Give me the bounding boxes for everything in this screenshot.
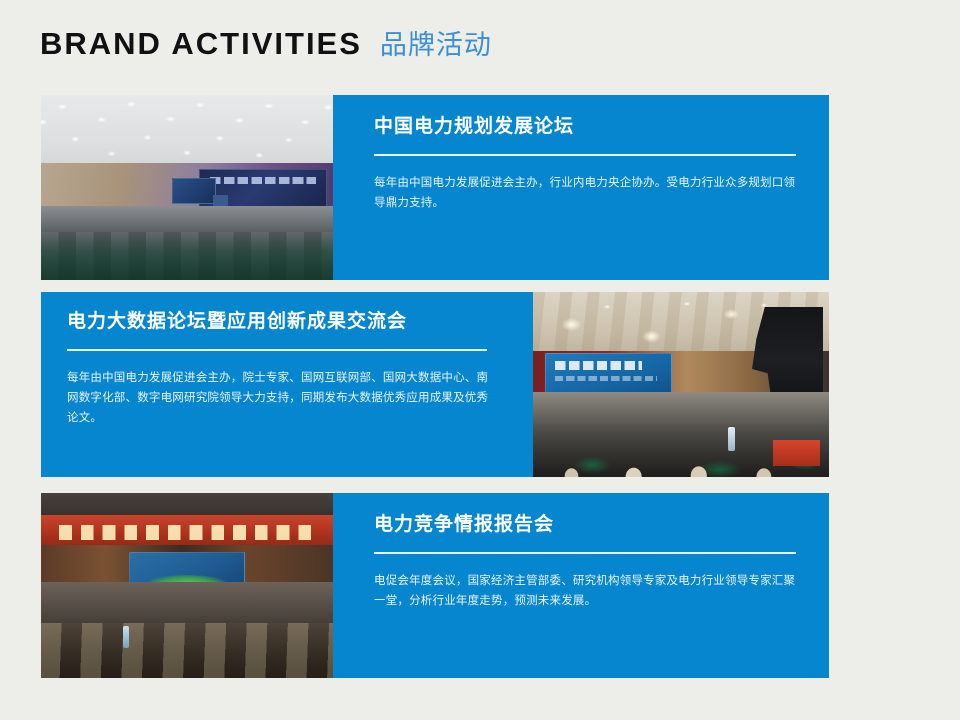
activity-photo-3	[41, 493, 333, 678]
activity-card-3[interactable]: 电力竞争情报报告会 电促会年度会议，国家经济主管部委、研究机构领导专家及电力行业…	[41, 493, 829, 678]
page-title-chinese: 品牌活动	[380, 32, 492, 59]
photo-audience-heads	[41, 195, 333, 280]
activity-title-1: 中国电力规划发展论坛	[374, 116, 574, 139]
page-title: BRAND ACTIVITIES 品牌活动	[40, 28, 492, 59]
activity-title-2: 电力大数据论坛暨应用创新成果交流会	[67, 311, 407, 334]
activity-description-2: 每年由中国电力发展促进会主办，院士专家、国网互联网部、国网大数据中心、南网数字化…	[67, 368, 499, 428]
photo-water-bottle	[123, 626, 129, 648]
activity-divider-3	[374, 552, 796, 554]
activity-description-3: 电促会年度会议，国家经济主管部委、研究机构领导专家及电力行业领导专家汇聚一堂，分…	[374, 571, 804, 611]
activity-body-2: 电力大数据论坛暨应用创新成果交流会 每年由中国电力发展促进会主办，院士专家、国网…	[41, 292, 533, 477]
activity-divider-2	[67, 349, 487, 351]
activity-title-3: 电力竞争情报报告会	[374, 514, 554, 537]
activity-divider-1	[374, 154, 796, 156]
photo-audience-heads	[41, 593, 333, 678]
activity-body-1: 中国电力规划发展论坛 每年由中国电力发展促进会主办，行业内电力央企协办。受电力行…	[333, 95, 829, 280]
activity-description-1: 每年由中国电力发展促进会主办，行业内电力央企协办。受电力行业众多规划口领导鼎力支…	[374, 173, 804, 213]
activity-card-1[interactable]: 中国电力规划发展论坛 每年由中国电力发展促进会主办，行业内电力央企协办。受电力行…	[41, 95, 829, 280]
photo-water-bottle	[728, 427, 735, 451]
photo-red-seats	[773, 440, 820, 466]
page-title-english: BRAND ACTIVITIES	[40, 28, 362, 59]
activity-photo-2	[533, 292, 829, 477]
activity-photo-1	[41, 95, 333, 280]
activity-card-2[interactable]: 电力大数据论坛暨应用创新成果交流会 每年由中国电力发展促进会主办，院士专家、国网…	[41, 292, 829, 477]
activity-body-3: 电力竞争情报报告会 电促会年度会议，国家经济主管部委、研究机构领导专家及电力行业…	[333, 493, 829, 678]
